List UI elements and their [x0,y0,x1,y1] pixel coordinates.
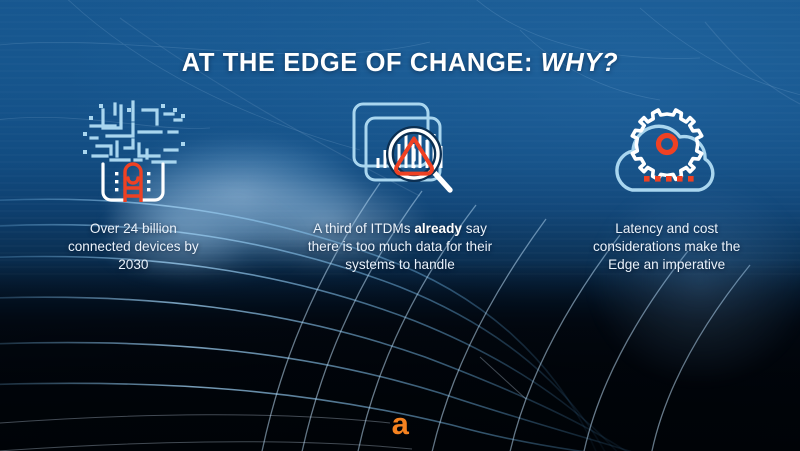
brand-logo-glyph: a [392,408,409,439]
gear-shape [632,110,701,179]
feature-caption-1-line-2: connected devices by [33,238,233,256]
fingerprint-circuit-icon [77,98,189,202]
icon-slot-2 [340,96,460,204]
slide-title: AT THE EDGE OF CHANGE: WHY? [0,49,800,78]
feature-column-2: A third of ITDMs already say there is to… [267,96,534,274]
feature-column-3: Latency and cost considerations make the… [533,96,800,274]
feature-columns: Over 24 billion connected devices by 203… [0,96,800,274]
data-alert-magnifier-icon [340,98,460,202]
feature-caption-1: Over 24 billion connected devices by 203… [33,220,233,274]
feature-caption-3: Latency and cost considerations make the… [567,220,767,274]
feature-caption-3-line-2: considerations make the [567,238,767,256]
feature-column-1: Over 24 billion connected devices by 203… [0,96,267,274]
feature-caption-1-line-3: 2030 [33,256,233,274]
slide-canvas: AT THE EDGE OF CHANGE: WHY? [0,0,800,451]
icon-slot-3 [606,96,728,204]
feature-caption-3-line-3: Edge an imperative [567,256,767,274]
slide-title-main: AT THE EDGE OF CHANGE: [182,49,533,77]
brand-logo: a [0,408,800,439]
feature-caption-2-bold: already [414,221,462,236]
feature-caption-1-line-1: Over 24 billion [33,220,233,238]
cloud-gear-icon [606,98,728,202]
gear-center-ring [658,136,675,153]
icon-slot-1 [77,96,189,204]
feature-caption-3-line-1: Latency and cost [567,220,767,238]
feature-caption-2: A third of ITDMs already say there is to… [300,220,500,274]
slide-title-emphasis: WHY? [541,49,618,77]
feature-caption-2-prefix: A third of ITDMs [313,221,414,236]
